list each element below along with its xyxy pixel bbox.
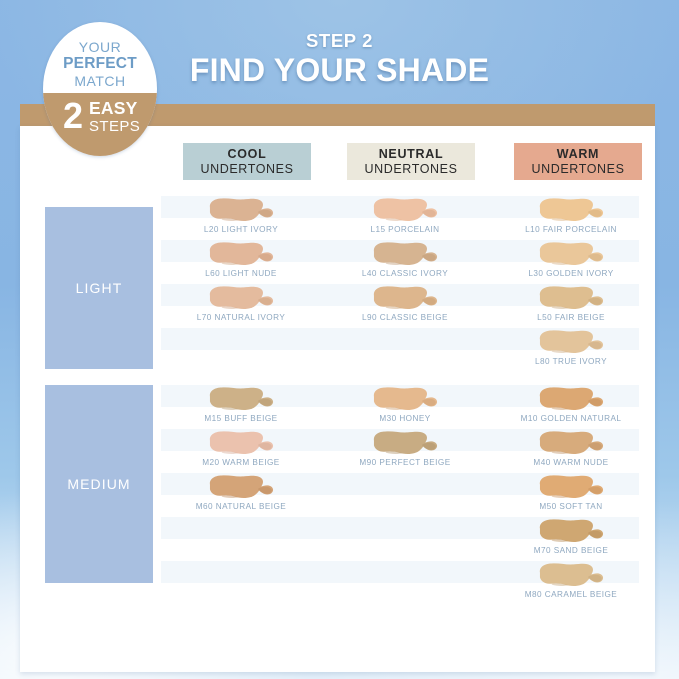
shade-cell[interactable]: M50 SOFT TAN bbox=[491, 473, 651, 517]
shade-swatch-icon bbox=[537, 241, 611, 268]
shade-label: L70 NATURAL IVORY bbox=[161, 313, 321, 322]
group-block-light: LIGHT bbox=[45, 207, 153, 369]
shade-label: L15 PORCELAIN bbox=[325, 225, 485, 234]
shade-swatch-icon bbox=[537, 329, 611, 356]
shade-cell[interactable]: M20 WARM BEIGE bbox=[161, 429, 321, 473]
shade-label: M80 CARAMEL BEIGE bbox=[491, 590, 651, 599]
shade-swatch-icon bbox=[537, 430, 611, 457]
column-header-neutral-subtitle: UNDERTONES bbox=[364, 162, 457, 176]
column-header-neutral-title: NEUTRAL bbox=[379, 147, 444, 161]
column-header-cool-title: COOL bbox=[228, 147, 267, 161]
shade-cell[interactable]: M70 SAND BEIGE bbox=[491, 517, 651, 561]
shade-swatch-icon bbox=[207, 197, 281, 224]
shade-swatch-icon bbox=[371, 285, 445, 312]
shade-label: L10 FAIR PORCELAIN bbox=[491, 225, 651, 234]
shade-label: M10 GOLDEN NATURAL bbox=[491, 414, 651, 423]
badge-easy-label: EASY bbox=[89, 100, 137, 118]
shade-cell[interactable]: M60 NATURAL BEIGE bbox=[161, 473, 321, 517]
shade-cell[interactable]: L10 FAIR PORCELAIN bbox=[491, 196, 651, 240]
shade-cell[interactable]: M40 WARM NUDE bbox=[491, 429, 651, 473]
shade-swatch-icon bbox=[537, 386, 611, 413]
shade-label: L80 TRUE IVORY bbox=[491, 357, 651, 366]
shade-label: L40 CLASSIC IVORY bbox=[325, 269, 485, 278]
shade-swatch-icon bbox=[207, 241, 281, 268]
shade-cell[interactable]: L40 CLASSIC IVORY bbox=[325, 240, 485, 284]
shade-label: M60 NATURAL BEIGE bbox=[161, 502, 321, 511]
shade-swatch-icon bbox=[537, 285, 611, 312]
shade-label: L30 GOLDEN IVORY bbox=[491, 269, 651, 278]
shade-cell[interactable]: M90 PERFECT BEIGE bbox=[325, 429, 485, 473]
shade-label: M90 PERFECT BEIGE bbox=[325, 458, 485, 467]
infographic-root: STEP 2 FIND YOUR SHADE YOUR PERFECT MATC… bbox=[0, 0, 679, 679]
badge-steps-label: STEPS bbox=[89, 119, 140, 134]
shade-label: M30 HONEY bbox=[325, 414, 485, 423]
shade-cell[interactable]: L30 GOLDEN IVORY bbox=[491, 240, 651, 284]
shade-cell[interactable]: M80 CARAMEL BEIGE bbox=[491, 561, 651, 605]
column-header-warm-subtitle: UNDERTONES bbox=[531, 162, 624, 176]
shade-cell[interactable]: L50 FAIR BEIGE bbox=[491, 284, 651, 328]
shade-cell[interactable]: L90 CLASSIC BEIGE bbox=[325, 284, 485, 328]
shade-cell[interactable]: L70 NATURAL IVORY bbox=[161, 284, 321, 328]
column-header-cool-subtitle: UNDERTONES bbox=[200, 162, 293, 176]
shade-label: L50 FAIR BEIGE bbox=[491, 313, 651, 322]
shade-swatch-icon bbox=[371, 197, 445, 224]
perfect-match-badge: YOUR PERFECT MATCH 2 EASY STEPS bbox=[43, 22, 157, 156]
shade-label: M20 WARM BEIGE bbox=[161, 458, 321, 467]
shade-swatch-icon bbox=[371, 430, 445, 457]
shade-swatch-icon bbox=[537, 474, 611, 501]
shade-swatch-icon bbox=[371, 386, 445, 413]
shade-label: M40 WARM NUDE bbox=[491, 458, 651, 467]
shade-swatch-icon bbox=[207, 474, 281, 501]
column-header-warm-title: WARM bbox=[557, 147, 599, 161]
shade-label: M70 SAND BEIGE bbox=[491, 546, 651, 555]
column-header-warm[interactable]: WARM UNDERTONES bbox=[514, 143, 642, 180]
shade-swatch-icon bbox=[207, 285, 281, 312]
shade-label: L20 LIGHT IVORY bbox=[161, 225, 321, 234]
column-header-neutral[interactable]: NEUTRAL UNDERTONES bbox=[347, 143, 475, 180]
shade-cell[interactable]: M15 BUFF BEIGE bbox=[161, 385, 321, 429]
badge-line-match: MATCH bbox=[43, 74, 157, 88]
shade-label: L60 LIGHT NUDE bbox=[161, 269, 321, 278]
shade-swatch-icon bbox=[537, 197, 611, 224]
shade-label: L90 CLASSIC BEIGE bbox=[325, 313, 485, 322]
shade-swatch-icon bbox=[371, 241, 445, 268]
shade-cell[interactable]: M10 GOLDEN NATURAL bbox=[491, 385, 651, 429]
shade-swatch-icon bbox=[537, 518, 611, 545]
shade-swatch-icon bbox=[207, 386, 281, 413]
shade-grid: L20 LIGHT IVORYL60 LIGHT NUDEL70 NATURAL… bbox=[161, 196, 639, 610]
shade-label: M15 BUFF BEIGE bbox=[161, 414, 321, 423]
shade-cell[interactable]: M30 HONEY bbox=[325, 385, 485, 429]
shade-label: M50 SOFT TAN bbox=[491, 502, 651, 511]
shade-cell[interactable]: L20 LIGHT IVORY bbox=[161, 196, 321, 240]
shade-cell[interactable]: L80 TRUE IVORY bbox=[491, 328, 651, 372]
shade-swatch-icon bbox=[537, 562, 611, 589]
group-block-medium: MEDIUM bbox=[45, 385, 153, 583]
shade-swatch-icon bbox=[207, 430, 281, 457]
shade-cell[interactable]: L60 LIGHT NUDE bbox=[161, 240, 321, 284]
badge-line-perfect: PERFECT bbox=[43, 56, 157, 72]
badge-step-number: 2 bbox=[56, 98, 90, 134]
column-header-cool[interactable]: COOL UNDERTONES bbox=[183, 143, 311, 180]
badge-line-your: YOUR bbox=[43, 40, 157, 54]
shade-cell[interactable]: L15 PORCELAIN bbox=[325, 196, 485, 240]
